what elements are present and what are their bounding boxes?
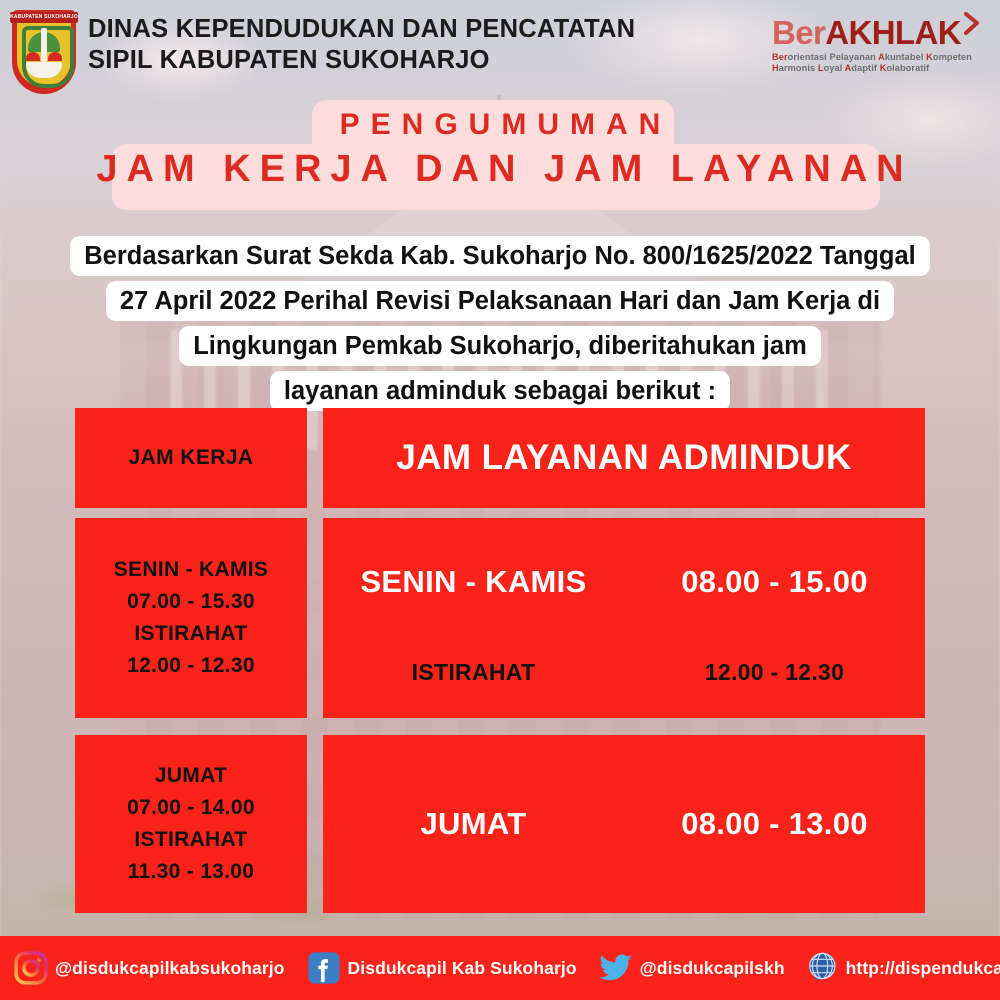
- row1-left-break-label: ISTIRAHAT: [134, 618, 247, 650]
- footer-item-website[interactable]: http://dispendukcapil.sukoharjokab.go.id: [807, 952, 1000, 984]
- instagram-icon[interactable]: [14, 951, 48, 985]
- social-footer: @disdukcapilkabsukoharjo Disdukcapil Kab…: [0, 936, 1000, 1000]
- row1-right-break-label: ISTIRAHAT: [323, 659, 624, 686]
- row2-left-hours: 07.00 - 14.00: [127, 792, 255, 824]
- row1-right-day: SENIN - KAMIS: [323, 564, 624, 600]
- facebook-icon[interactable]: [307, 951, 341, 985]
- twitter-icon[interactable]: [599, 954, 633, 982]
- row2-left-break-hours: 11.30 - 13.00: [128, 856, 255, 888]
- row1-left-day: SENIN - KAMIS: [114, 554, 268, 586]
- footer-item-twitter[interactable]: @disdukcapilskh: [599, 954, 785, 982]
- footer-website-url[interactable]: http://dispendukcapil.sukoharjokab.go.id: [846, 958, 1000, 979]
- table-row2-right-content: JUMAT 08.00 - 13.00: [323, 735, 925, 913]
- table-row1-left-content: SENIN - KAMIS 07.00 - 15.30 ISTIRAHAT 12…: [75, 518, 307, 718]
- table-row2-left-content: JUMAT 07.00 - 14.00 ISTIRAHAT 11.30 - 13…: [75, 735, 307, 913]
- footer-item-instagram[interactable]: @disdukcapilkabsukoharjo: [14, 951, 285, 985]
- row2-right-day: JUMAT: [323, 806, 624, 842]
- row2-left-break-label: ISTIRAHAT: [134, 824, 247, 856]
- row1-right-break-hours: 12.00 - 12.30: [624, 659, 925, 686]
- row2-right-hours: 08.00 - 13.00: [624, 806, 925, 842]
- table-row1-right-content: SENIN - KAMIS 08.00 - 15.00 ISTIRAHAT 12…: [323, 518, 925, 718]
- footer-instagram-handle[interactable]: @disdukcapilkabsukoharjo: [55, 958, 285, 979]
- announcement-poster: KABUPATEN SUKOHARJO DINAS KEPENDUDUKAN D…: [0, 0, 1000, 1000]
- row1-left-break-hours: 12.00 - 12.30: [127, 650, 255, 682]
- website-globe-icon[interactable]: [807, 952, 839, 984]
- row1-right-hours: 08.00 - 15.00: [624, 564, 925, 600]
- row2-left-day: JUMAT: [155, 760, 227, 792]
- footer-facebook-page[interactable]: Disdukcapil Kab Sukoharjo: [348, 958, 577, 979]
- footer-twitter-handle[interactable]: @disdukcapilskh: [640, 958, 785, 979]
- footer-item-facebook[interactable]: Disdukcapil Kab Sukoharjo: [307, 951, 577, 985]
- table-header-left-label: JAM KERJA: [75, 408, 307, 508]
- table-header-right-label: JAM LAYANAN ADMINDUK: [323, 408, 925, 508]
- schedule-table: JAM KERJA JAM LAYANAN ADMINDUK SENIN - K…: [0, 0, 1000, 1000]
- row1-left-hours: 07.00 - 15.30: [127, 586, 255, 618]
